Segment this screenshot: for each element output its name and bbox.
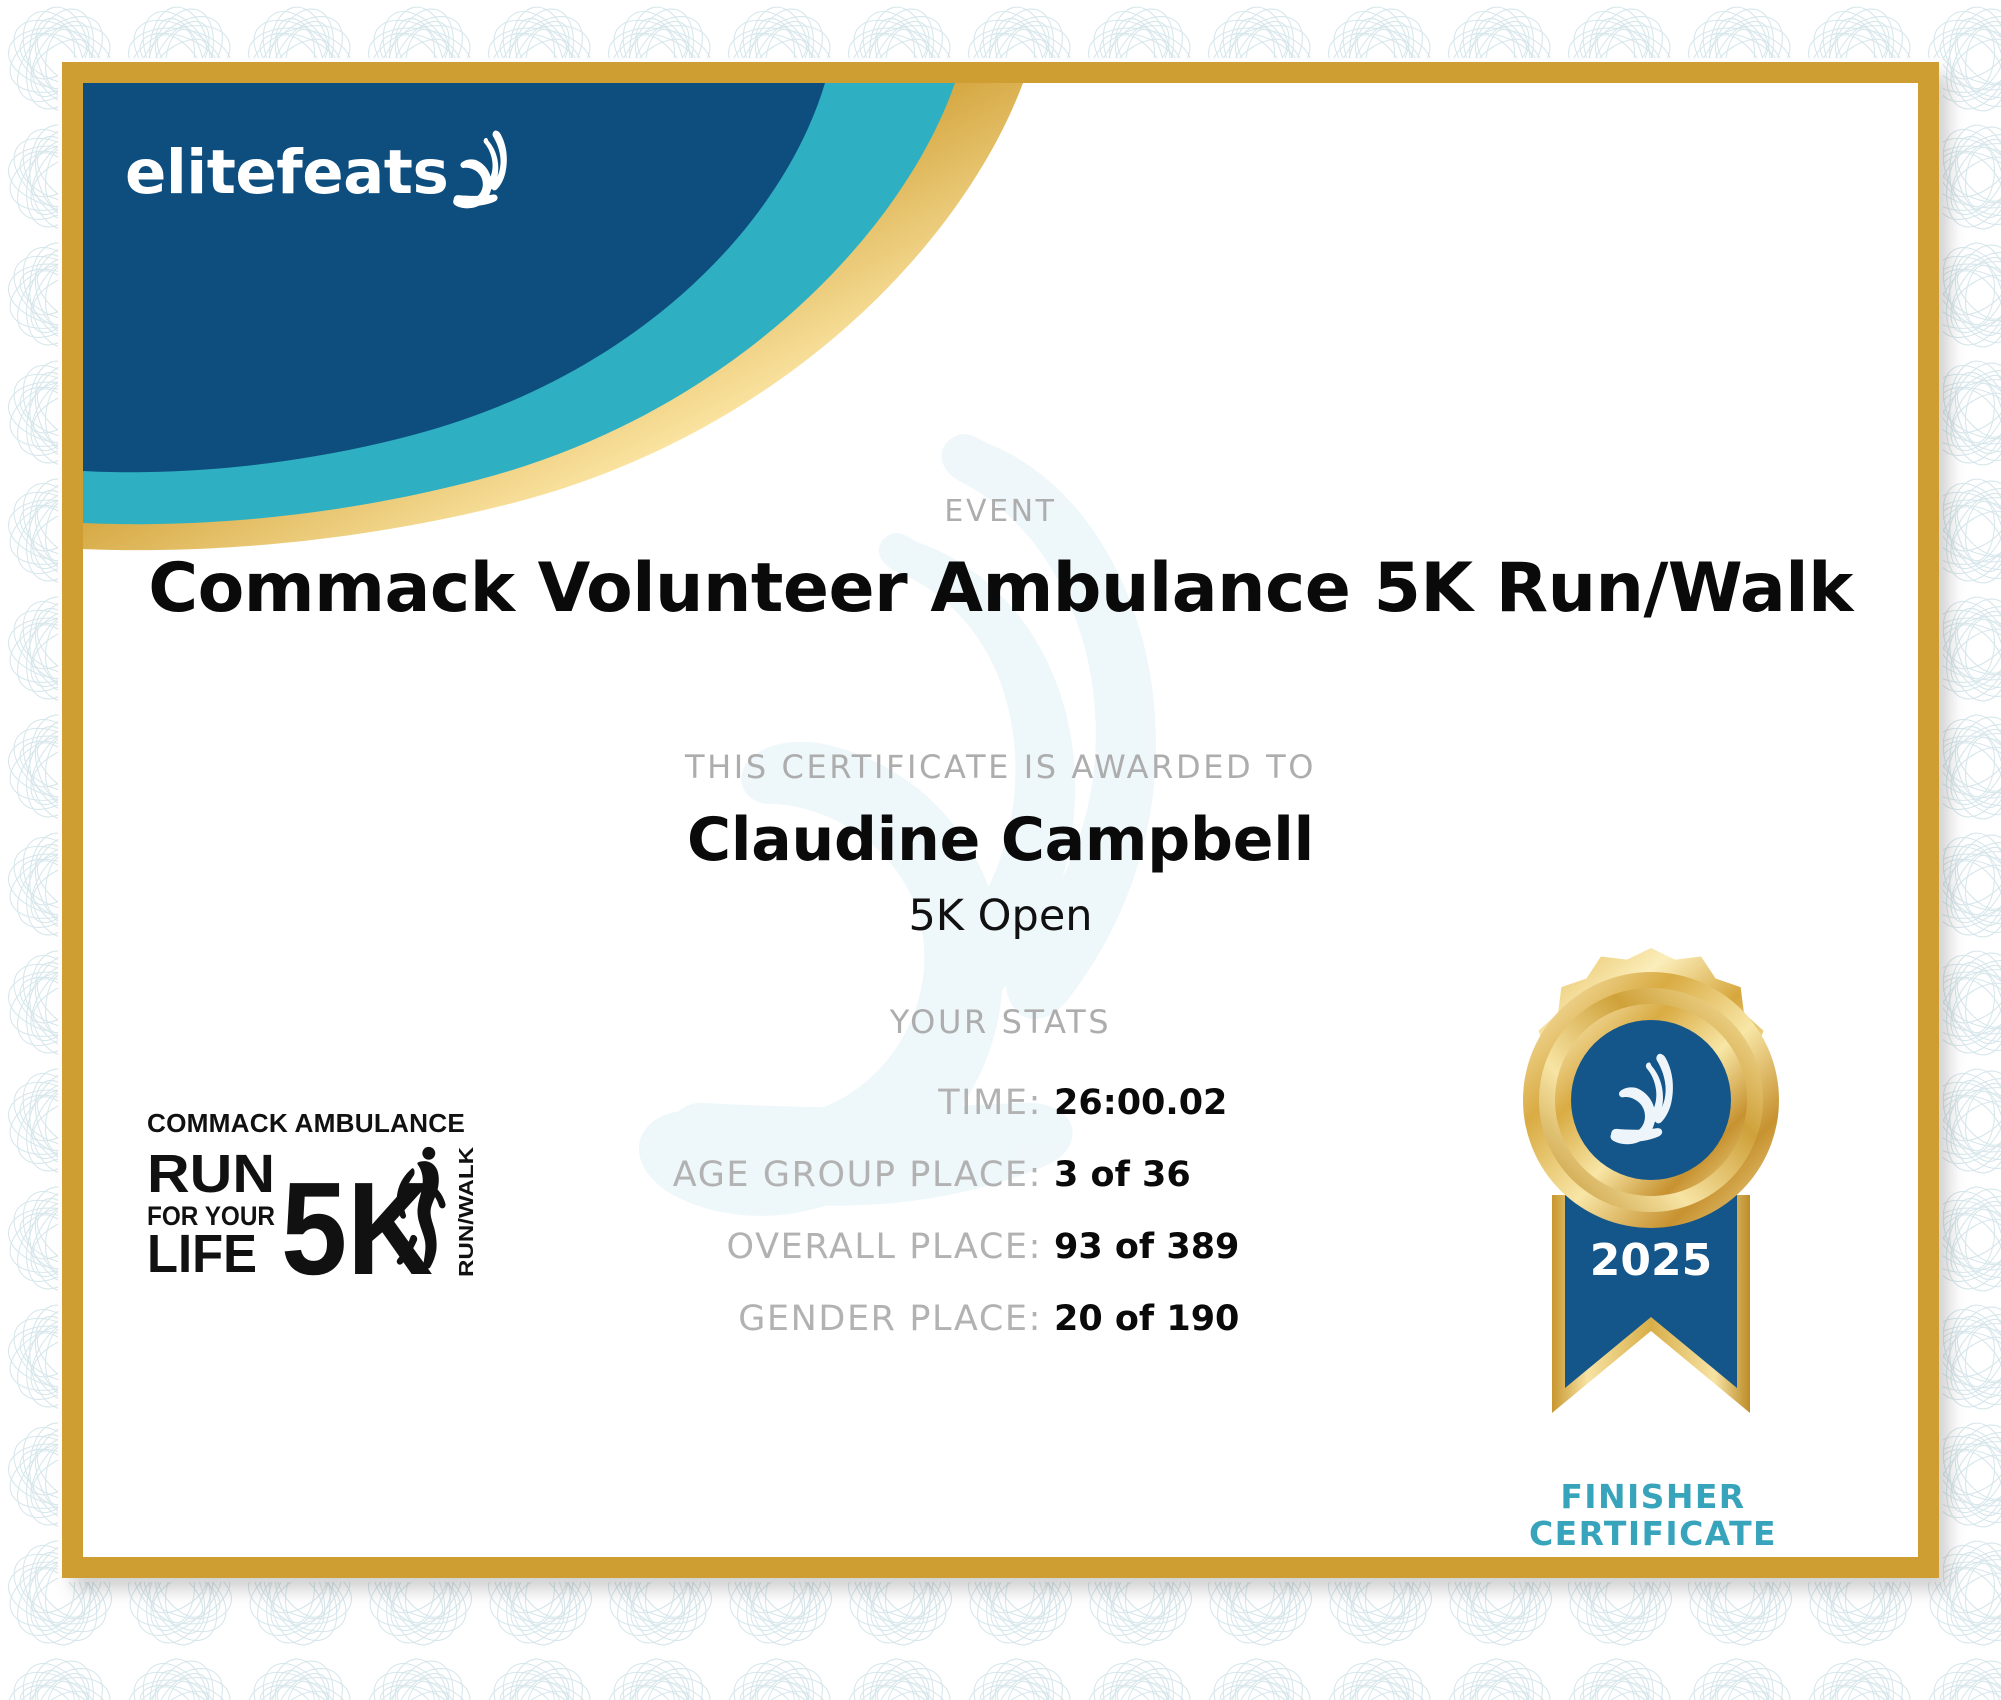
certificate-inner: elitefeats EVENT Commack Volunteer Ambul… bbox=[83, 83, 1918, 1557]
brand-wordmark: elitefeats bbox=[125, 137, 448, 208]
recipient-division: 5K Open bbox=[83, 891, 1918, 941]
stat-value: 3 of 36 bbox=[1054, 1155, 1254, 1195]
event-title: Commack Volunteer Ambulance 5K Run/Walk bbox=[83, 549, 1918, 628]
stat-label: TIME: bbox=[938, 1083, 1042, 1123]
race-event-logo: COMMACK AMBULANCE RUN FOR YOUR LIFE 5K R… bbox=[147, 1109, 479, 1281]
stat-label: AGE GROUP PLACE: bbox=[673, 1155, 1042, 1195]
stat-label: GENDER PLACE: bbox=[738, 1299, 1042, 1339]
winged-foot-icon bbox=[450, 129, 516, 209]
awarded-to-label: THIS CERTIFICATE IS AWARDED TO bbox=[83, 748, 1918, 786]
event-label: EVENT bbox=[83, 494, 1918, 529]
certificate-card: elitefeats EVENT Commack Volunteer Ambul… bbox=[62, 62, 1939, 1578]
certificate-body: EVENT Commack Volunteer Ambulance 5K Run… bbox=[83, 83, 1918, 1557]
medal-disc bbox=[1523, 948, 1779, 1228]
finisher-line-2: CERTIFICATE bbox=[1473, 1516, 1833, 1553]
medal-year: 2025 bbox=[1590, 1235, 1712, 1286]
race-logo-line2: RUN bbox=[147, 1144, 275, 1204]
finisher-line-1: FINISHER bbox=[1473, 1479, 1833, 1516]
stats-list: TIME: 26:00.02 AGE GROUP PLACE: 3 of 36 … bbox=[454, 1083, 1254, 1371]
race-logo-line1: COMMACK AMBULANCE bbox=[147, 1110, 465, 1138]
stat-row-time: TIME: 26:00.02 bbox=[454, 1083, 1254, 1137]
finisher-medal-badge: 2025 bbox=[1480, 945, 1822, 1445]
race-logo-vertical: RUN/WALK bbox=[456, 1146, 478, 1277]
stat-row-age-group-place: AGE GROUP PLACE: 3 of 36 bbox=[454, 1155, 1254, 1209]
stat-row-gender-place: GENDER PLACE: 20 of 190 bbox=[454, 1299, 1254, 1353]
stat-value: 26:00.02 bbox=[1054, 1083, 1254, 1123]
stat-value: 20 of 190 bbox=[1054, 1299, 1254, 1339]
stat-row-overall-place: OVERALL PLACE: 93 of 389 bbox=[454, 1227, 1254, 1281]
race-logo-line4: LIFE bbox=[147, 1224, 257, 1281]
elitefeats-logo: elitefeats bbox=[125, 135, 516, 209]
stat-value: 93 of 389 bbox=[1054, 1227, 1254, 1267]
stat-label: OVERALL PLACE: bbox=[727, 1227, 1042, 1267]
recipient-name: Claudine Campbell bbox=[83, 805, 1918, 875]
finisher-certificate-caption: FINISHER CERTIFICATE bbox=[1473, 1479, 1833, 1553]
